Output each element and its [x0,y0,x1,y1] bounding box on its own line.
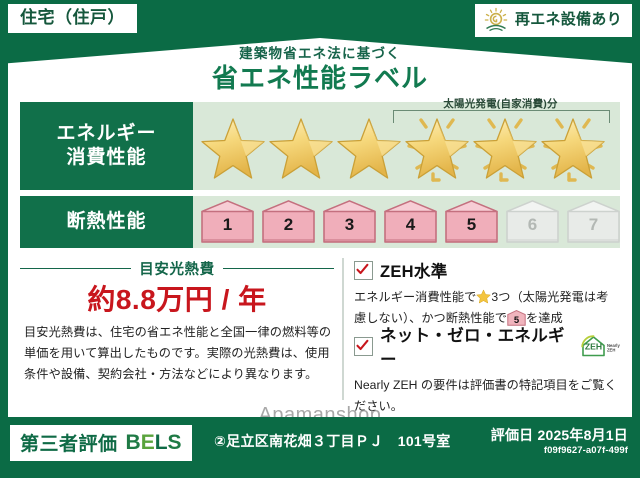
evaluation-id: f09f9627-a07f-499f [544,445,628,456]
star-filled [199,106,267,188]
net-zero-checkbox[interactable] [354,337,373,356]
net-zero-energy-block: ネット・ゼロ・エネルギー ZEH Nearly ZEH Nearly ZEH の… [354,322,620,416]
label-card: エネルギー 消費性能 太陽光発電(自家消費)分 [8,96,632,417]
utility-cost-column: 目安光熱費 約8.8万円 / 年 目安光熱費は、住宅の省エネ性能と全国一律の燃料… [20,256,334,408]
insulation-house-active: 2 [260,199,317,245]
bels-letter-b: B [126,431,141,454]
insulation-house-active: 3 [321,199,378,245]
star-filled [335,106,403,188]
insulation-level-number: 1 [199,215,256,235]
star-solar [403,106,471,188]
star-rating-row [199,106,607,188]
evaluation-date: 評価日 2025年8月1日 [491,425,628,445]
energy-label-line1: エネルギー [56,122,156,146]
bels-letter-l: L [155,431,168,454]
insulation-house-active: 4 [382,199,439,245]
details-area: 目安光熱費 約8.8万円 / 年 目安光熱費は、住宅の省エネ性能と全国一律の燃料… [20,256,620,408]
bels-jp-label: 第三者評価 [20,429,118,456]
utility-cost-heading: 目安光熱費 [20,258,334,279]
renewable-energy-badge: 再エネ設備あり [475,4,632,37]
cost-rule-right [223,268,334,270]
bels-en-label: BELS [126,431,182,455]
bels-logo: 第三者評価 BELS [10,425,192,461]
net-zero-title: ネット・ゼロ・エネルギー [380,322,571,370]
insulation-label-text: 断熱性能 [66,210,146,234]
energy-label-root: 住宅（住戸） [0,0,640,478]
insulation-level-number: 6 [504,215,561,235]
sun-solar-icon [483,7,509,33]
insulation-level-number: 3 [321,215,378,235]
footer-band: 第三者評価 BELS ②足立区南花畑３丁目ＰＪ 101号室 評価日 2025年8… [0,417,640,478]
zeh-house-logo-icon: ZEH Nearly ZEH [580,334,620,358]
insulation-house-inactive: 6 [504,199,561,245]
star-solar [471,106,539,188]
utility-cost-value: 約8.8万円 / 年 [20,278,334,318]
renewable-badge-label: 再エネ設備あり [515,12,622,29]
energy-performance-panel: エネルギー 消費性能 太陽光発電(自家消費)分 [20,102,620,190]
insulation-level-number: 2 [260,215,317,235]
star-filled [267,106,335,188]
energy-performance-label: エネルギー 消費性能 [20,102,193,190]
evaluation-date-label: 評価日 [491,427,534,443]
bels-letter-s: S [168,431,182,454]
zeh-standard-title: ZEH水準 [380,258,448,282]
insulation-level-number: 5 [443,215,500,235]
net-zero-body: Nearly ZEH の要件は評価書の特記項目をご覧ください。 [354,375,620,416]
insulation-level-number: 4 [382,215,439,235]
svg-text:ZEH: ZEH [585,342,602,352]
insulation-level-row: 1 2 3 4 5 6 7 [199,199,622,245]
svg-text:ZEH: ZEH [607,348,615,353]
insulation-performance-label: 断熱性能 [20,196,193,248]
bels-letter-e: E [141,431,155,454]
insulation-level-number: 7 [565,215,622,235]
insulation-house-active: 5 [443,199,500,245]
insulation-house-active: 1 [199,199,256,245]
cost-rule-left [20,268,131,270]
zeh-column: ZEH水準 エネルギー消費性能で3つ（太陽光発電は考慮しない）、かつ断熱性能で5… [354,256,620,408]
utility-cost-heading-text: 目安光熱費 [139,258,215,279]
energy-stars-area: 太陽光発電(自家消費)分 [193,102,620,190]
inline-star-icon [476,289,491,304]
zeh-standard-block: ZEH水準 エネルギー消費性能で3つ（太陽光発電は考慮しない）、かつ断熱性能で5… [354,258,620,328]
page-title: 省エネ性能ラベル [0,58,640,95]
house-type-badge-label: 住宅（住戸） [20,8,125,27]
evaluation-date-value: 2025年8月1日 [537,427,628,443]
utility-cost-note: 目安光熱費は、住宅の省エネ性能と全国一律の燃料等の単価を用いて算出したものです。… [24,322,332,385]
column-divider [342,258,344,400]
house-type-badge: 住宅（住戸） [8,4,137,33]
insulation-house-inactive: 7 [565,199,622,245]
net-zero-heading: ネット・ゼロ・エネルギー ZEH Nearly ZEH [354,322,620,370]
zeh-standard-checkbox[interactable] [354,261,373,280]
zeh-standard-heading: ZEH水準 [354,258,620,282]
energy-label-line2: 消費性能 [66,146,146,170]
star-solar [539,106,607,188]
property-address: ②足立区南花畑３丁目ＰＪ 101号室 [214,431,451,451]
zeh-body-pre: エネルギー消費性能で [354,290,476,304]
insulation-performance-panel: 断熱性能 1 2 3 4 5 [20,196,620,248]
